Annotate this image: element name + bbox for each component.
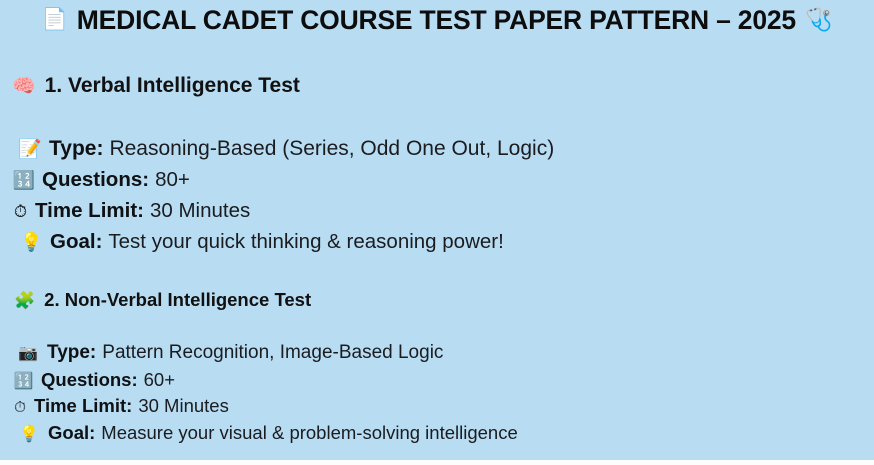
detail-row-questions: 🔢 Questions: 80+ [12,168,190,192]
section-heading-verbal-intelligence-test: 🧠 1. Verbal Intelligence Test [12,74,300,98]
detail-label: Type: [47,342,96,364]
stopwatch-icon: ⏱ [10,202,31,222]
detail-label: Questions: [42,168,149,192]
page-title-row: 📄 MEDICAL CADET COURSE TEST PAPER PATTER… [0,3,874,37]
detail-value: 80+ [155,168,190,192]
detail-value: Measure your visual & problem-solving in… [101,422,517,444]
detail-row-type: 📷 Type: Pattern Recognition, Image-Based… [16,342,443,364]
light-bulb-icon: 💡 [18,424,40,444]
detail-label: Goal: [50,230,102,254]
input-numbers-icon: 🔢 [12,170,36,191]
puzzle-piece-icon: 🧩 [14,291,35,311]
detail-row-time-limit: ⏱ Time Limit: 30 Minutes [10,199,250,223]
stethoscope-icon: 🩺 [805,3,832,37]
input-numbers-icon: 🔢 [12,371,35,391]
detail-value: Test your quick thinking & reasoning pow… [108,230,503,254]
stopwatch-icon: ⏱ [10,399,30,417]
detail-value: Reasoning-Based (Series, Odd One Out, Lo… [109,137,554,161]
camera-icon: 📷 [16,343,40,363]
detail-value: 60+ [144,369,175,391]
detail-row-goal: 💡 Goal: Measure your visual & problem-so… [18,422,518,444]
light-bulb-icon: 💡 [20,232,42,253]
bottom-edge-strip [0,460,874,465]
detail-row-questions: 🔢 Questions: 60+ [12,369,175,391]
detail-label: Goal: [48,422,95,444]
detail-row-time-limit: ⏱ Time Limit: 30 Minutes [10,395,229,417]
section-heading-label: 1. Verbal Intelligence Test [45,74,300,98]
detail-value: Pattern Recognition, Image-Based Logic [102,342,443,364]
detail-value: 30 Minutes [150,199,250,223]
detail-value: 30 Minutes [138,395,229,417]
memo-pencil-icon: 📝 [18,137,42,161]
brain-icon: 🧠 [12,74,36,98]
slide-canvas: 📄 MEDICAL CADET COURSE TEST PAPER PATTER… [0,0,874,460]
page-title: MEDICAL CADET COURSE TEST PAPER PATTERN … [77,3,796,37]
detail-row-goal: 💡 Goal: Test your quick thinking & reaso… [20,230,504,254]
detail-label: Time Limit: [35,199,144,223]
section-heading-non-verbal-intelligence-test: 🧩 2. Non-Verbal Intelligence Test [14,289,311,311]
detail-label: Type: [49,137,103,161]
section-heading-label: 2. Non-Verbal Intelligence Test [44,289,311,311]
detail-row-type: 📝 Type: Reasoning-Based (Series, Odd One… [18,137,554,161]
detail-label: Questions: [41,369,138,391]
page-document-icon: 📄 [42,3,68,37]
detail-label: Time Limit: [34,395,132,417]
